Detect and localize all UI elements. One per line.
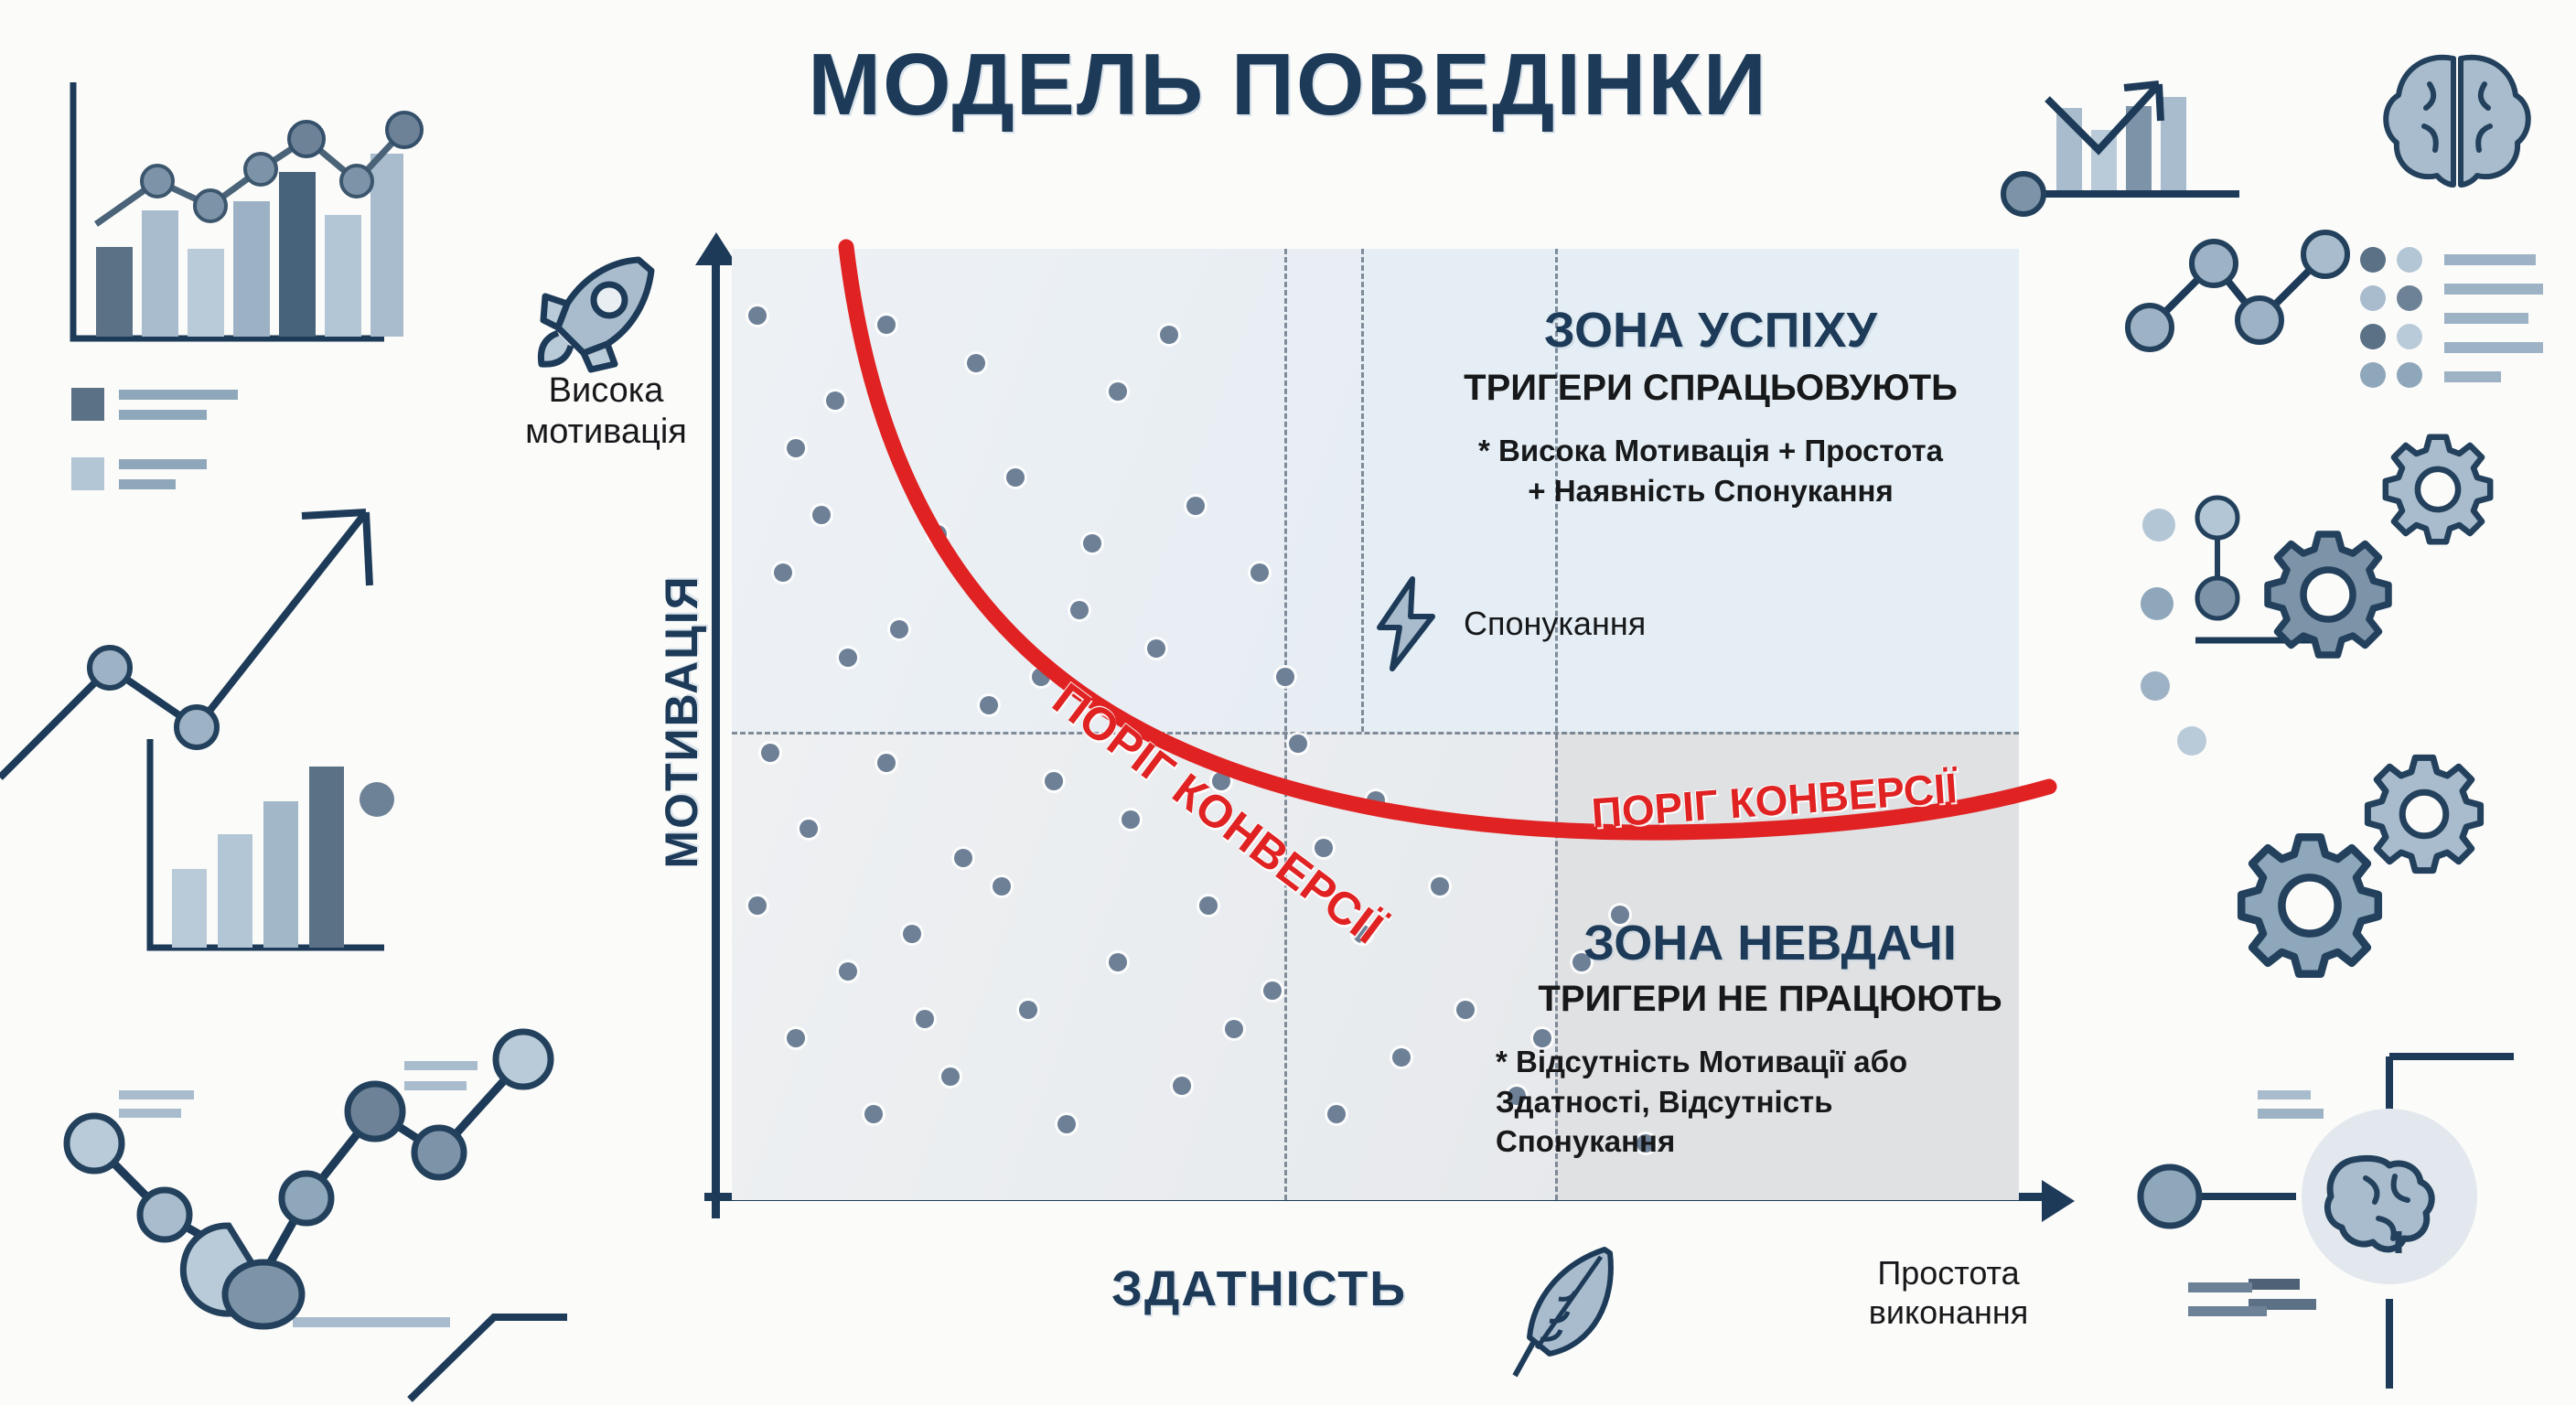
scatter-point — [1019, 1001, 1037, 1019]
failure-zone-body-line-3: Спонукання — [1496, 1121, 2045, 1162]
scatter-point — [826, 391, 844, 410]
failure-zone-subheading: ТРИГЕРИ НЕ ПРАЦЮЮТЬ — [1496, 979, 2045, 1020]
scatter-point — [1186, 497, 1205, 515]
scatter-point — [1070, 601, 1089, 619]
scatter-point — [1289, 735, 1307, 753]
decor-growth-chart-icon — [2012, 55, 2305, 238]
success-zone-subheading: ТРИГЕРИ СПРАЦЬОВУЮТЬ — [1390, 368, 2031, 409]
gridline-vertical-success — [1361, 249, 1364, 732]
x-axis-arrowhead — [2042, 1180, 2075, 1222]
scatter-point — [890, 620, 908, 638]
scatter-point — [1392, 1048, 1411, 1067]
scatter-point — [1006, 468, 1025, 487]
prompt-legend: Спонукання — [1372, 576, 1646, 671]
scatter-point — [748, 896, 767, 915]
decor-short-lines-icon — [2188, 1282, 2280, 1337]
scatter-point — [1109, 953, 1127, 971]
simplicity-line-1: Простота — [1820, 1253, 2077, 1292]
scatter-point — [839, 962, 857, 981]
scatter-point — [1431, 877, 1449, 896]
success-zone-heading: ЗОНА УСПІХУ — [1390, 302, 2031, 359]
failure-zone-body-line-2: Здатності, Відсутність — [1496, 1082, 2045, 1122]
success-zone: ЗОНА УСПІХУ ТРИГЕРИ СПРАЦЬОВУЮТЬ * Висок… — [1390, 302, 2031, 510]
scatter-point — [1276, 668, 1294, 686]
x-axis-title: ЗДАТНІСТЬ — [1111, 1260, 1407, 1317]
scatter-point — [967, 354, 985, 372]
gridline-vertical-1 — [1284, 249, 1287, 1200]
success-zone-body-line-2: + Наявність Спонукання — [1390, 471, 2031, 511]
decor-bar-line-chart-icon — [55, 73, 421, 366]
scatter-point — [1160, 326, 1178, 344]
scatter-point — [877, 754, 896, 772]
simplicity-line-2: виконання — [1820, 1292, 2077, 1332]
lightning-bolt-icon — [1372, 576, 1440, 671]
success-zone-body-line-1: * Висока Мотивація + Простота — [1390, 431, 2031, 471]
y-axis — [712, 236, 713, 1217]
simplicity-note: Простота виконання — [1820, 1253, 2077, 1332]
decor-line-nodes-icon — [2131, 220, 2369, 357]
scatter-point — [748, 306, 767, 325]
scatter-point — [903, 925, 921, 943]
high-motivation-line-1: Висока — [508, 370, 704, 412]
scatter-point — [1367, 791, 1385, 810]
y-axis-title: МОТИВАЦІЯ — [655, 539, 708, 905]
scatter-point — [877, 316, 896, 334]
decor-small-bar-chart-icon — [137, 732, 402, 970]
rocket-icon — [531, 254, 659, 373]
prompt-label: Спонукання — [1464, 605, 1646, 643]
failure-zone: ЗОНА НЕВДАЧІ ТРИГЕРИ НЕ ПРАЦЮЮТЬ * Відсу… — [1496, 915, 2045, 1162]
decor-dots-cluster-icon — [2150, 512, 2205, 768]
brain-icon — [2375, 48, 2539, 194]
high-motivation-line-2: мотивація — [508, 412, 704, 453]
scatter-point — [1109, 382, 1127, 401]
scatter-point — [1250, 563, 1269, 582]
gridline-horizontal — [732, 732, 2019, 735]
scatter-point — [928, 525, 947, 543]
failure-zone-body-line-1: * Відсутність Мотивації або — [1496, 1042, 2045, 1082]
scatter-point — [941, 1067, 960, 1086]
scatter-point — [1225, 1020, 1243, 1038]
infographic-canvas: МОДЕЛЬ ПОВЕДІНКИ — [0, 0, 2576, 1405]
y-axis-line — [712, 258, 720, 1218]
scatter-point — [1032, 668, 1050, 686]
gear-icon — [2232, 828, 2388, 983]
scatter-point — [954, 849, 972, 867]
scatter-point — [1263, 981, 1282, 1000]
decor-network-line-chart-icon — [55, 1015, 567, 1400]
scatter-point — [1456, 1001, 1475, 1019]
decor-dot-matrix-list-icon — [2360, 247, 2543, 412]
high-motivation-note: Висока мотивація — [508, 370, 704, 453]
failure-zone-heading: ЗОНА НЕВДАЧІ — [1496, 915, 2045, 971]
scatter-point — [839, 649, 857, 667]
scatter-point — [1199, 896, 1218, 915]
gear-icon — [2259, 526, 2397, 663]
feather-icon — [1509, 1242, 1628, 1379]
scatter-point — [774, 563, 792, 582]
scatter-point — [1147, 639, 1165, 658]
scatter-point — [1057, 1115, 1076, 1133]
